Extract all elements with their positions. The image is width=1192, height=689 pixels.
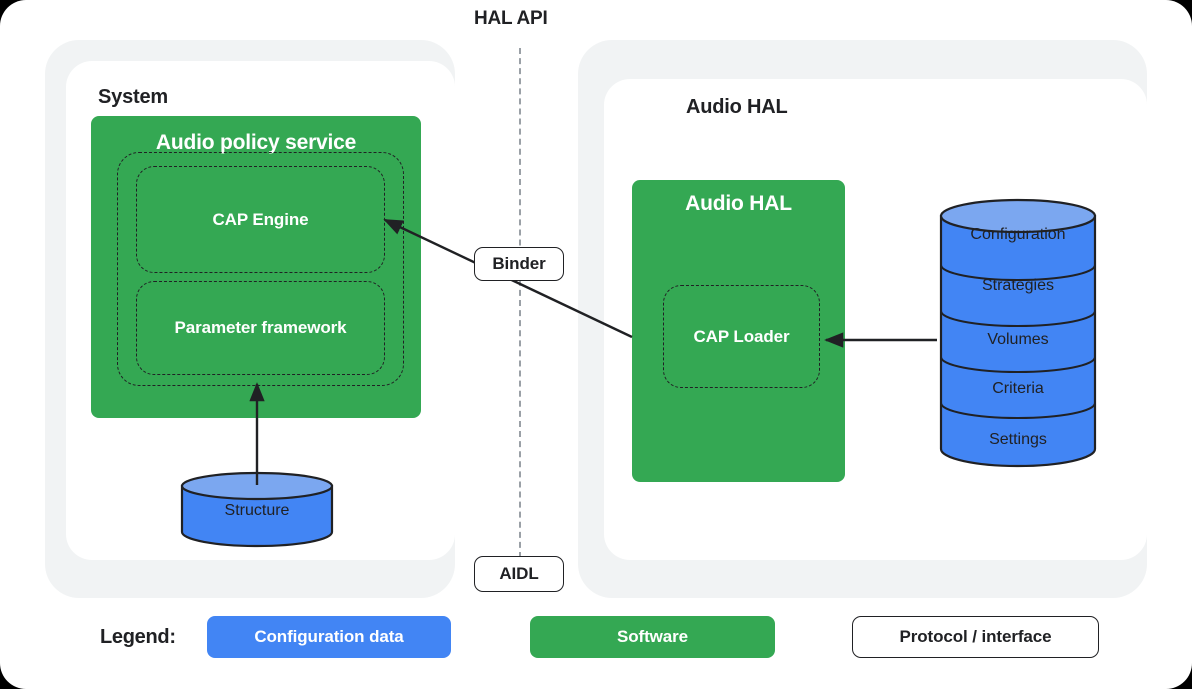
cap-loader-block[interactable]: CAP Loader (663, 285, 820, 388)
right-panel-title: Audio HAL (686, 96, 788, 119)
legend-chip-software: Software (530, 616, 775, 658)
cap-engine-label: CAP Engine (137, 210, 384, 230)
cap-loader-label: CAP Loader (664, 327, 819, 347)
configuration-data-cylinder[interactable]: Configuration Strategies Volumes Criteri… (938, 198, 1098, 472)
structure-cylinder[interactable]: Structure (180, 472, 334, 546)
left-panel-title: System (98, 86, 168, 109)
diagram-canvas: HAL API System Audio policy service CAP … (0, 0, 1192, 689)
legend-label: Legend: (100, 626, 176, 649)
hal-api-divider-line (519, 48, 521, 558)
parameter-framework-block[interactable]: Parameter framework (136, 281, 385, 375)
legend-chip-configuration-data: Configuration data (207, 616, 451, 658)
legend-chip-protocol-interface: Protocol / interface (852, 616, 1099, 658)
binder-pill[interactable]: Binder (474, 247, 564, 281)
cap-engine-block[interactable]: CAP Engine (136, 166, 385, 273)
parameter-framework-label: Parameter framework (137, 318, 384, 338)
audio-hal-title: Audio HAL (632, 192, 845, 216)
hal-api-label: HAL API (474, 8, 548, 30)
aidl-pill[interactable]: AIDL (474, 556, 564, 592)
